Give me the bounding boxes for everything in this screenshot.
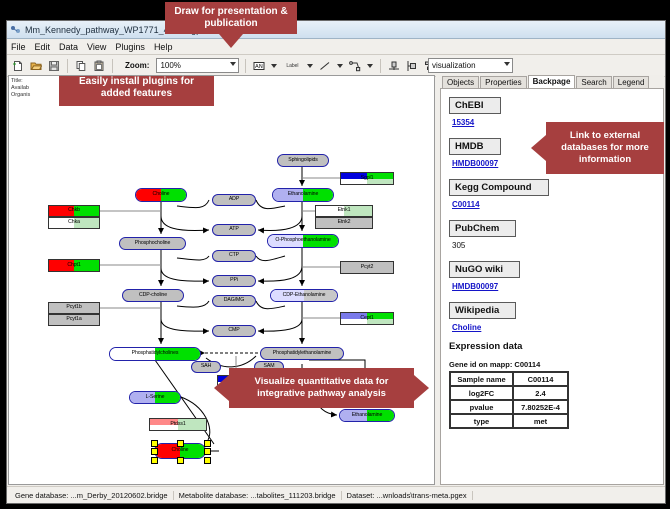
node-label: CMP <box>228 328 239 333</box>
node-label: Etnk1 <box>338 208 351 213</box>
nugo-link[interactable]: HMDB00097 <box>452 282 663 291</box>
datanode-icon[interactable]: AN <box>252 59 266 73</box>
paste-icon[interactable] <box>92 59 106 73</box>
node-label: L-Serine <box>146 395 165 400</box>
label-dropdown[interactable] <box>306 60 314 72</box>
toolbar-separator-4 <box>380 59 381 73</box>
node-label: SAH <box>201 364 211 369</box>
new-file-icon[interactable] <box>11 59 25 73</box>
gene-node-pcyt1a[interactable]: Pcyt1a <box>48 314 100 326</box>
application-window: Mm_Kennedy_pathway_WP1771_45176.gpml Fil… <box>6 20 666 504</box>
node-label: Phosphocholine <box>135 241 171 246</box>
title-bar: Mm_Kennedy_pathway_WP1771_45176.gpml <box>7 21 665 39</box>
selection-handle[interactable] <box>151 440 158 447</box>
metabolite-node-o-phosphoethanolamine[interactable]: O-Phosphoethanolamine <box>267 234 339 248</box>
node-label: DAG/MG <box>224 298 244 303</box>
cell-value-sample-name: C00114 <box>513 372 568 386</box>
node-label: Ethanolamine <box>288 192 319 197</box>
selection-handle[interactable] <box>177 440 184 447</box>
metabolite-node-phosphocholine[interactable]: Phosphocholine <box>119 237 186 250</box>
status-gene-database: Gene database: ...m_Derby_20120602.bridg… <box>10 491 174 500</box>
cell-value-pvalue: 7.80252E-4 <box>513 400 568 414</box>
status-bar: Gene database: ...m_Derby_20120602.bridg… <box>7 486 665 503</box>
cell-key-type: type <box>450 414 513 428</box>
metabolite-node-ethanolamine[interactable]: Ethanolamine <box>272 188 334 202</box>
shape-icon[interactable] <box>348 59 362 73</box>
line-icon[interactable] <box>318 59 332 73</box>
screenshot-root: Mm_Kennedy_pathway_WP1771_45176.gpml Fil… <box>0 0 670 509</box>
metabolite-node-cdp-ethanolamine[interactable]: CDP-Ethanolamine <box>270 289 338 302</box>
table-row: log2FC 2.4 <box>450 386 568 400</box>
toolbar-separator <box>67 59 68 73</box>
table-row: pvalue 7.80252E-4 <box>450 400 568 414</box>
selection-handle[interactable] <box>204 448 211 455</box>
node-label: Sphingolipids <box>288 158 318 163</box>
links-callout: Link to external databases for more info… <box>546 122 664 174</box>
menu-item-help[interactable]: Help <box>154 42 173 52</box>
svg-text:AN: AN <box>255 64 263 70</box>
selection-handle[interactable] <box>204 457 211 464</box>
node-label: Choline <box>172 448 189 453</box>
menu-bar: File Edit Data View Plugins Help <box>7 39 665 55</box>
metabolite-node-dag-mg[interactable]: DAG/MG <box>212 295 256 307</box>
node-label: Choline <box>153 192 170 197</box>
draw-callout: Draw for presentation & publication <box>165 2 297 34</box>
metabolite-node-ppi[interactable]: PPi <box>212 275 256 287</box>
visualize-callout-text: Visualize quantitative data for integrat… <box>237 376 406 400</box>
node-label: Sgpl1 <box>361 176 374 181</box>
visualize-callout-arrow-left-icon <box>214 375 229 401</box>
pathway-canvas[interactable]: Title: Availab Organis <box>9 76 434 484</box>
node-label: Chka <box>68 220 80 225</box>
app-icon <box>10 24 21 35</box>
zoom-combobox[interactable]: 100% <box>156 58 239 73</box>
side-panel-tabs: Objects Properties Backpage Search Legen… <box>436 75 664 88</box>
zoom-label: Zoom: <box>125 61 149 70</box>
node-label: Chkb <box>68 208 80 213</box>
plugins-callout-text: Easily install plugins for added feature… <box>67 76 206 100</box>
gene-node-chpt1[interactable]: Chpt1 <box>48 259 100 272</box>
metabolite-node-phosphatidylcholines[interactable]: Phosphatidylcholines <box>109 347 201 361</box>
metabolite-node-cdp-choline[interactable]: CDP-choline <box>122 289 184 302</box>
wikipedia-link[interactable]: Choline <box>452 323 663 332</box>
zoom-value: 100% <box>160 61 180 70</box>
node-label: Etnk2 <box>338 220 351 225</box>
selection-handle[interactable] <box>177 457 184 464</box>
gene-node-cept1[interactable]: Cept1 <box>340 312 394 325</box>
chevron-down-icon <box>230 62 236 66</box>
gene-node-chka[interactable]: Chka <box>48 217 100 229</box>
node-label: CDP-Ethanolamine <box>283 293 326 298</box>
tab-properties[interactable]: Properties <box>480 76 526 88</box>
pubchem-value: 305 <box>452 241 663 250</box>
metabolite-node-ethanolamine[interactable]: Ethanolamine <box>339 409 395 422</box>
table-row: type met <box>450 414 568 428</box>
menu-item-data[interactable]: Data <box>59 42 78 52</box>
metabolite-node-atp[interactable]: ATP <box>212 224 256 236</box>
metabolite-node-choline[interactable]: Choline <box>135 188 187 202</box>
node-label: PPi <box>230 278 238 283</box>
section-header-chebi: ChEBI <box>449 97 501 114</box>
metabolite-node-ctp[interactable]: CTP <box>212 250 256 262</box>
gene-id-line: Gene id on mapp: C00114 <box>449 360 663 369</box>
metabolite-node-sphingolipids[interactable]: Sphingolipids <box>277 154 329 167</box>
node-label: Ethanolamine <box>352 413 383 418</box>
gene-node-ptdss1[interactable]: Ptdss1 <box>149 418 207 431</box>
node-label: Phosphatidylethanolamine <box>273 351 331 356</box>
draw-callout-text: Draw for presentation & publication <box>173 6 289 30</box>
label-icon-text: Label <box>286 63 298 69</box>
tab-backpage[interactable]: Backpage <box>528 75 576 88</box>
gene-node-pcyt2[interactable]: Pcyt2 <box>340 261 394 274</box>
node-label: ADP <box>229 197 239 202</box>
node-label: CTP <box>229 253 239 258</box>
cell-value-type: met <box>513 414 568 428</box>
toolbar-separator-2 <box>112 59 113 73</box>
cell-value-log2fc: 2.4 <box>513 386 568 400</box>
chevron-down-icon-2 <box>504 62 510 66</box>
section-header-kegg: Kegg Compound <box>449 179 549 196</box>
shape-dropdown[interactable] <box>366 60 374 72</box>
gene-node-pcyt1b[interactable]: Pcyt1b <box>48 302 100 314</box>
tab-objects[interactable]: Objects <box>442 76 479 88</box>
selection-handle[interactable] <box>151 457 158 464</box>
tab-search[interactable]: Search <box>576 76 611 88</box>
node-label: O-Phosphoethanolamine <box>275 238 330 243</box>
metabolite-node-phosphatidylethanolamine[interactable]: Phosphatidylethanolamine <box>260 347 344 360</box>
plugins-callout: Easily install plugins for added feature… <box>59 76 214 106</box>
status-metabolite-database: Metabolite database: ...tabolites_111203… <box>174 491 342 500</box>
pathway-canvas-panel[interactable]: Title: Availab Organis <box>8 75 435 485</box>
links-callout-arrow-icon <box>531 135 546 161</box>
gene-node-sgpl1[interactable]: Sgpl1 <box>340 172 394 185</box>
align-top-icon[interactable] <box>387 59 401 73</box>
line-dropdown[interactable] <box>336 60 344 72</box>
section-header-wikipedia: Wikipedia <box>449 302 516 319</box>
section-header-pubchem: PubChem <box>449 220 516 237</box>
visualization-combobox[interactable]: visualization <box>428 58 513 73</box>
cell-key-log2fc: log2FC <box>450 386 513 400</box>
menu-item-file[interactable]: File <box>11 42 26 52</box>
tab-legend[interactable]: Legend <box>613 76 650 88</box>
cell-key-pvalue: pvalue <box>450 400 513 414</box>
expression-table: Sample name C00114 log2FC 2.4 pvalue 7.8… <box>449 371 569 429</box>
menu-item-view[interactable]: View <box>87 42 106 52</box>
section-header-nugo: NuGO wiki <box>449 261 520 278</box>
visualize-callout: Visualize quantitative data for integrat… <box>229 368 414 408</box>
node-label: Ptdss1 <box>170 422 185 427</box>
kegg-link[interactable]: C00114 <box>452 200 663 209</box>
selection-handle[interactable] <box>151 448 158 455</box>
save-icon[interactable] <box>47 59 61 73</box>
copy-icon[interactable] <box>74 59 88 73</box>
node-label: ATP <box>229 227 238 232</box>
visualization-value: visualization <box>432 61 476 70</box>
label-icon[interactable]: Label <box>282 59 302 73</box>
section-header-hmdb: HMDB <box>449 138 501 155</box>
links-callout-text: Link to external databases for more info… <box>554 130 656 166</box>
selection-handle[interactable] <box>204 440 211 447</box>
node-label: Pcyt1b <box>66 305 81 310</box>
node-label: Pcyt1a <box>66 317 81 322</box>
gene-node-etnk2[interactable]: Etnk2 <box>315 217 373 229</box>
open-folder-icon[interactable] <box>29 59 43 73</box>
node-label: CDP-choline <box>139 293 167 298</box>
toolbar-separator-3 <box>245 59 246 73</box>
datanode-dropdown[interactable] <box>270 60 278 72</box>
node-label: Chpt1 <box>67 263 80 268</box>
align-left-icon[interactable] <box>405 59 419 73</box>
node-label: Cept1 <box>360 316 373 321</box>
metabolite-node-adp[interactable]: ADP <box>212 194 256 206</box>
cell-key-sample-name: Sample name <box>450 372 513 386</box>
status-dataset: Dataset: ...wnloads\trans-meta.pgex <box>342 491 473 500</box>
gene-node-etnk1[interactable]: Etnk1 <box>315 205 373 217</box>
metabolite-node-cmp[interactable]: CMP <box>212 325 256 337</box>
expression-data-title: Expression data <box>449 341 663 352</box>
table-row: Sample name C00114 <box>450 372 568 386</box>
metabolite-node-l-serine[interactable]: L-Serine <box>129 391 181 404</box>
metabolite-node-sah[interactable]: SAH <box>191 361 221 373</box>
draw-callout-arrow-icon <box>219 34 243 48</box>
menu-item-plugins[interactable]: Plugins <box>115 42 145 52</box>
visualize-callout-arrow-right-icon <box>414 375 429 401</box>
node-label: Phosphatidylcholines <box>132 351 179 356</box>
node-label: Pcyt2 <box>361 265 373 270</box>
gene-node-chkb[interactable]: Chkb <box>48 205 100 217</box>
menu-item-edit[interactable]: Edit <box>35 42 51 52</box>
